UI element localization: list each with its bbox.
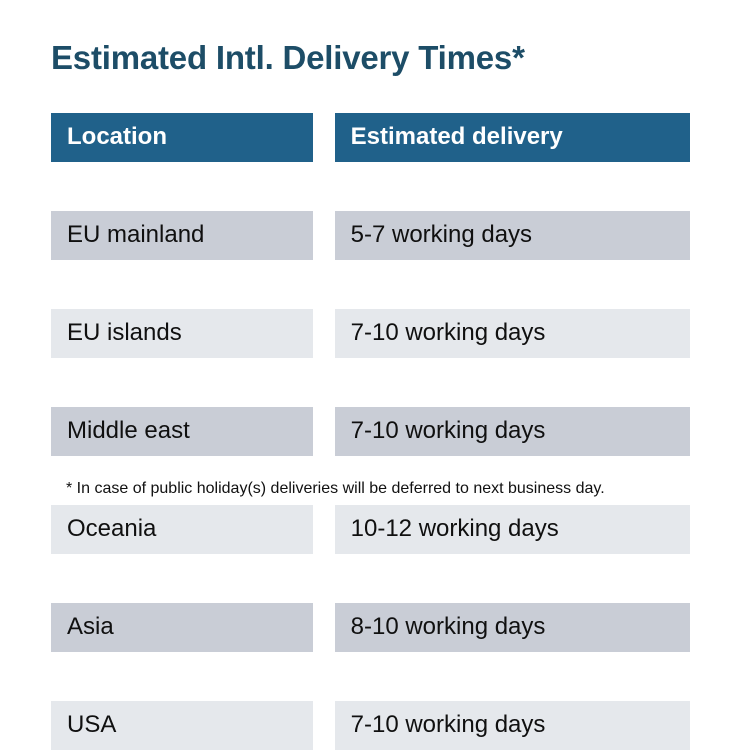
table-row: EU mainland 5-7 working days [51,211,690,260]
cell-location: EU islands [51,309,313,358]
table-header-row: Location Estimated delivery [51,113,690,162]
cell-delivery: 10-12 working days [335,505,690,554]
table-row: USA 7-10 working days [51,701,690,750]
row-gutter [313,309,334,358]
row-gutter [313,211,334,260]
table-row: Oceania 10-12 working days [51,505,690,554]
row-gutter [313,603,334,652]
spacer-cell [335,260,690,309]
spacer-cell [51,162,313,211]
column-gutter [313,113,334,162]
row-gutter [313,505,334,554]
footnote: * In case of public holiday(s) deliverie… [66,480,605,498]
row-spacer [51,652,690,701]
cell-location: Middle east [51,407,313,456]
spacer-cell [51,554,313,603]
row-spacer [51,554,690,603]
row-spacer [51,162,690,211]
cell-delivery: 7-10 working days [335,701,690,750]
spacer-cell [335,554,690,603]
spacer-cell [335,358,690,407]
spacer-gutter [313,162,334,211]
table-row: EU islands 7-10 working days [51,309,690,358]
spacer-gutter [313,554,334,603]
table-row: Asia 8-10 working days [51,603,690,652]
table-body: EU mainland 5-7 working days EU islands … [51,162,690,750]
column-header-estimated-delivery: Estimated delivery [335,113,690,162]
spacer-gutter [313,260,334,309]
row-spacer [51,260,690,309]
cell-delivery: 7-10 working days [335,407,690,456]
cell-delivery: 7-10 working days [335,309,690,358]
delivery-times-page: Estimated Intl. Delivery Times* Location… [0,0,745,536]
cell-location: Asia [51,603,313,652]
row-gutter [313,701,334,750]
cell-delivery: 5-7 working days [335,211,690,260]
spacer-cell [51,260,313,309]
page-title: Estimated Intl. Delivery Times* [51,38,525,78]
table-row: Middle east 7-10 working days [51,407,690,456]
cell-location: EU mainland [51,211,313,260]
cell-delivery: 8-10 working days [335,603,690,652]
row-gutter [313,407,334,456]
cell-location: USA [51,701,313,750]
column-header-location: Location [51,113,313,162]
cell-location: Oceania [51,505,313,554]
spacer-gutter [313,358,334,407]
row-spacer [51,358,690,407]
spacer-gutter [313,652,334,701]
spacer-cell [51,358,313,407]
spacer-cell [335,652,690,701]
table-header: Location Estimated delivery [51,113,690,162]
spacer-cell [335,162,690,211]
delivery-times-table: Location Estimated delivery EU mainland … [51,113,690,750]
spacer-cell [51,652,313,701]
